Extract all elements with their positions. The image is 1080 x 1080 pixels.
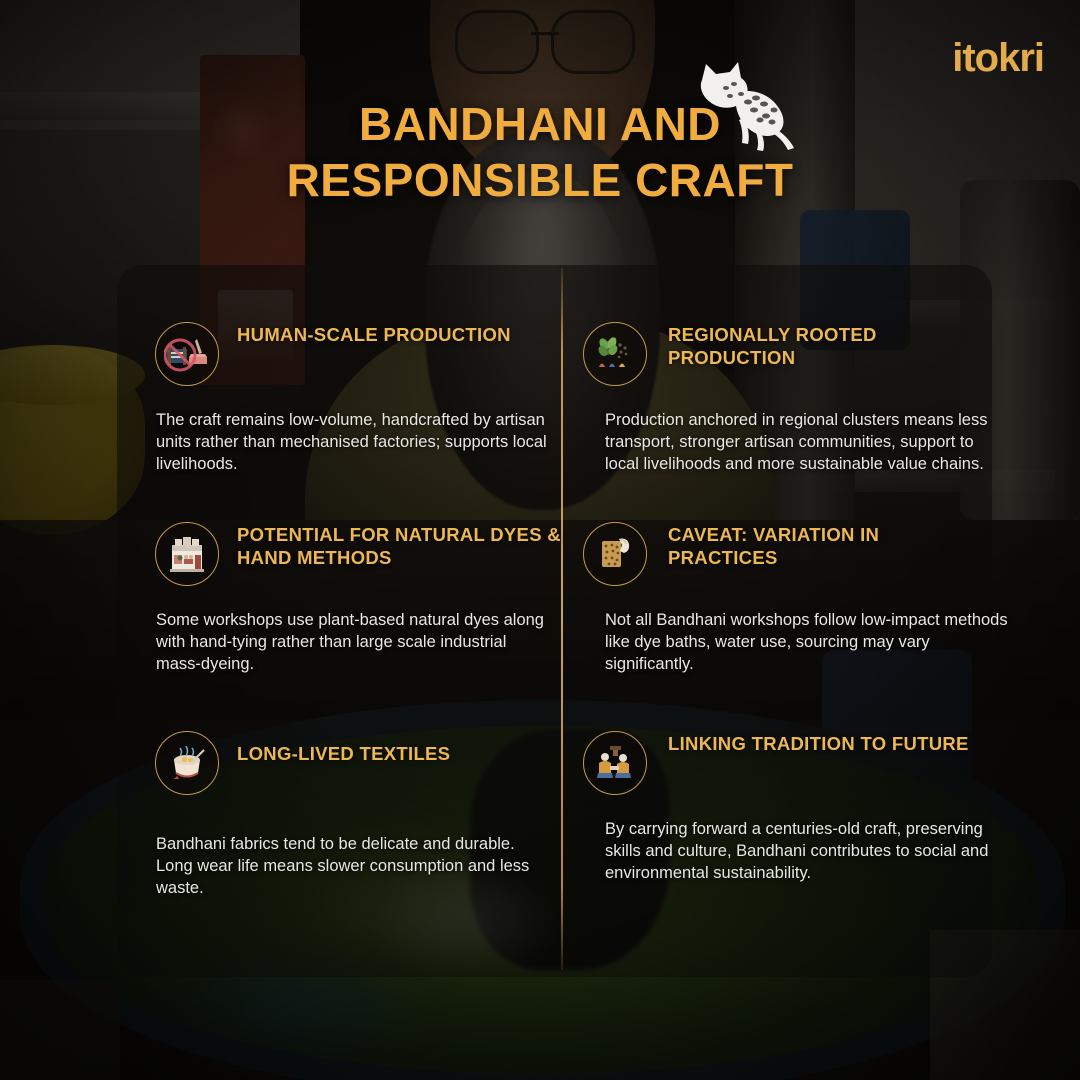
card-heading: HUMAN-SCALE PRODUCTION [237, 324, 557, 347]
hand-holding-patterned-fabric-icon [583, 522, 647, 586]
page-title-line2: RESPONSIBLE CRAFT [0, 152, 1080, 208]
card-body: Bandhani fabrics tend to be delicate and… [156, 834, 548, 899]
card-heading: CAVEAT: VARIATION IN PRACTICES [668, 524, 988, 569]
card-long-lived-textiles: LONG-LIVED TEXTILES Bandhani fabrics ten… [155, 731, 561, 931]
steaming-dye-pot-icon [155, 731, 219, 795]
page-title: BANDHANI AND RESPONSIBLE CRAFT [0, 96, 1080, 208]
card-body: Production anchored in regional clusters… [605, 410, 1009, 475]
card-heading: LINKING TRADITION TO FUTURE [668, 733, 988, 756]
artisan-workshop-building-icon [155, 522, 219, 586]
card-human-scale-production: HUMAN-SCALE PRODUCTION The craft remains… [155, 322, 561, 522]
leopard-cat-icon [686, 58, 798, 153]
card-body: Not all Bandhani workshops follow low-im… [605, 610, 1009, 675]
brand-logo[interactable]: itokri [952, 38, 1044, 78]
card-linking-tradition-to-future: LINKING TRADITION TO FUTURE By carrying … [583, 731, 992, 931]
brand-logo-text: itokri [952, 36, 1044, 80]
card-body: By carrying forward a centuries-old craf… [605, 819, 1009, 884]
card-regionally-rooted-production: REGIONALLY ROOTED PRODUCTION Production … [583, 322, 992, 522]
plant-with-dye-mounds-icon [583, 322, 647, 386]
column-divider [561, 268, 563, 970]
card-caveat-variation-in-practices: CAVEAT: VARIATION IN PRACTICES Not all B… [583, 522, 992, 722]
card-heading: POTENTIAL FOR NATURAL DYES & HAND METHOD… [237, 524, 567, 569]
page-title-line1: BANDHANI AND [359, 98, 721, 150]
card-body: Some workshops use plant-based natural d… [156, 610, 552, 675]
two-artisans-working-icon [583, 731, 647, 795]
card-body: The craft remains low-volume, handcrafte… [156, 410, 548, 475]
card-heading: REGIONALLY ROOTED PRODUCTION [668, 324, 988, 369]
infographic-canvas: itokri BANDHANI AND RESPONSIBLE CRAFT [0, 0, 1080, 1080]
card-heading: LONG-LIVED TEXTILES [237, 743, 567, 766]
no-factory-machine-icon [155, 322, 219, 386]
card-potential-for-natural-dyes: POTENTIAL FOR NATURAL DYES & HAND METHOD… [155, 522, 561, 722]
